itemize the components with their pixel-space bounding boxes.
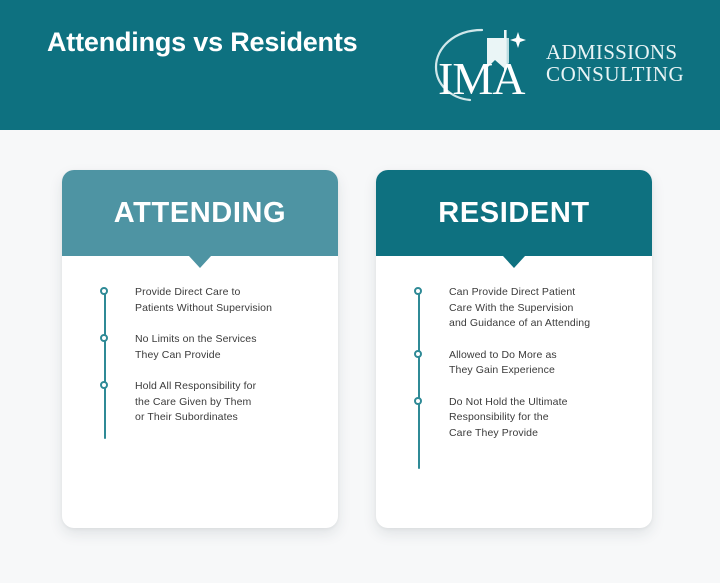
comparison-cards: ATTENDING Provide Direct Care to Patient… bbox=[0, 130, 720, 583]
list-item: Provide Direct Care to Patients Without … bbox=[100, 285, 322, 316]
bullet-circle-icon bbox=[414, 350, 422, 358]
bullet-circle-icon bbox=[100, 287, 108, 295]
brand-logo: IMA ADMISSIONS CONSULTING bbox=[430, 20, 695, 106]
logo-wordmark: ADMISSIONS CONSULTING bbox=[546, 41, 696, 85]
bullet-circle-icon bbox=[414, 287, 422, 295]
list-item: Allowed to Do More as They Gain Experien… bbox=[414, 348, 636, 379]
page-header: Attendings vs Residents IMA bbox=[0, 0, 720, 130]
card-attending-header: ATTENDING bbox=[62, 170, 338, 256]
logo-word-admissions: ADMISSIONS bbox=[546, 40, 677, 64]
bullet-circle-icon bbox=[100, 334, 108, 342]
svg-text:IMA: IMA bbox=[438, 53, 525, 104]
logo-word-consulting: CONSULTING bbox=[546, 63, 696, 85]
card-attending-notch-icon bbox=[189, 256, 211, 268]
card-resident-header: RESIDENT bbox=[376, 170, 652, 256]
list-item-label: Allowed to Do More as They Gain Experien… bbox=[449, 348, 636, 379]
list-item: Do Not Hold the Ultimate Responsibility … bbox=[414, 395, 636, 442]
infographic-root: Attendings vs Residents IMA bbox=[0, 0, 720, 583]
bullet-circle-icon bbox=[414, 397, 422, 405]
list-item: Hold All Responsibility for the Care Giv… bbox=[100, 379, 322, 426]
card-resident: RESIDENT Can Provide Direct Patient Care… bbox=[376, 170, 652, 528]
list-item: Can Provide Direct Patient Care With the… bbox=[414, 285, 636, 332]
card-attending-title: ATTENDING bbox=[114, 198, 286, 228]
page-title: Attendings vs Residents bbox=[47, 25, 387, 60]
attending-timeline: Provide Direct Care to Patients Without … bbox=[100, 285, 322, 442]
list-item: No Limits on the Services They Can Provi… bbox=[100, 332, 322, 363]
list-item-label: No Limits on the Services They Can Provi… bbox=[135, 332, 322, 363]
card-attending: ATTENDING Provide Direct Care to Patient… bbox=[62, 170, 338, 528]
list-item-label: Provide Direct Care to Patients Without … bbox=[135, 285, 322, 316]
card-resident-title: RESIDENT bbox=[438, 198, 589, 228]
resident-timeline: Can Provide Direct Patient Care With the… bbox=[414, 285, 636, 457]
list-item-label: Can Provide Direct Patient Care With the… bbox=[449, 285, 636, 332]
card-resident-notch-icon bbox=[503, 256, 525, 268]
list-item-label: Do Not Hold the Ultimate Responsibility … bbox=[449, 395, 636, 442]
list-item-label: Hold All Responsibility for the Care Giv… bbox=[135, 379, 322, 426]
bullet-circle-icon bbox=[100, 381, 108, 389]
ima-logo-icon: IMA bbox=[430, 22, 558, 104]
